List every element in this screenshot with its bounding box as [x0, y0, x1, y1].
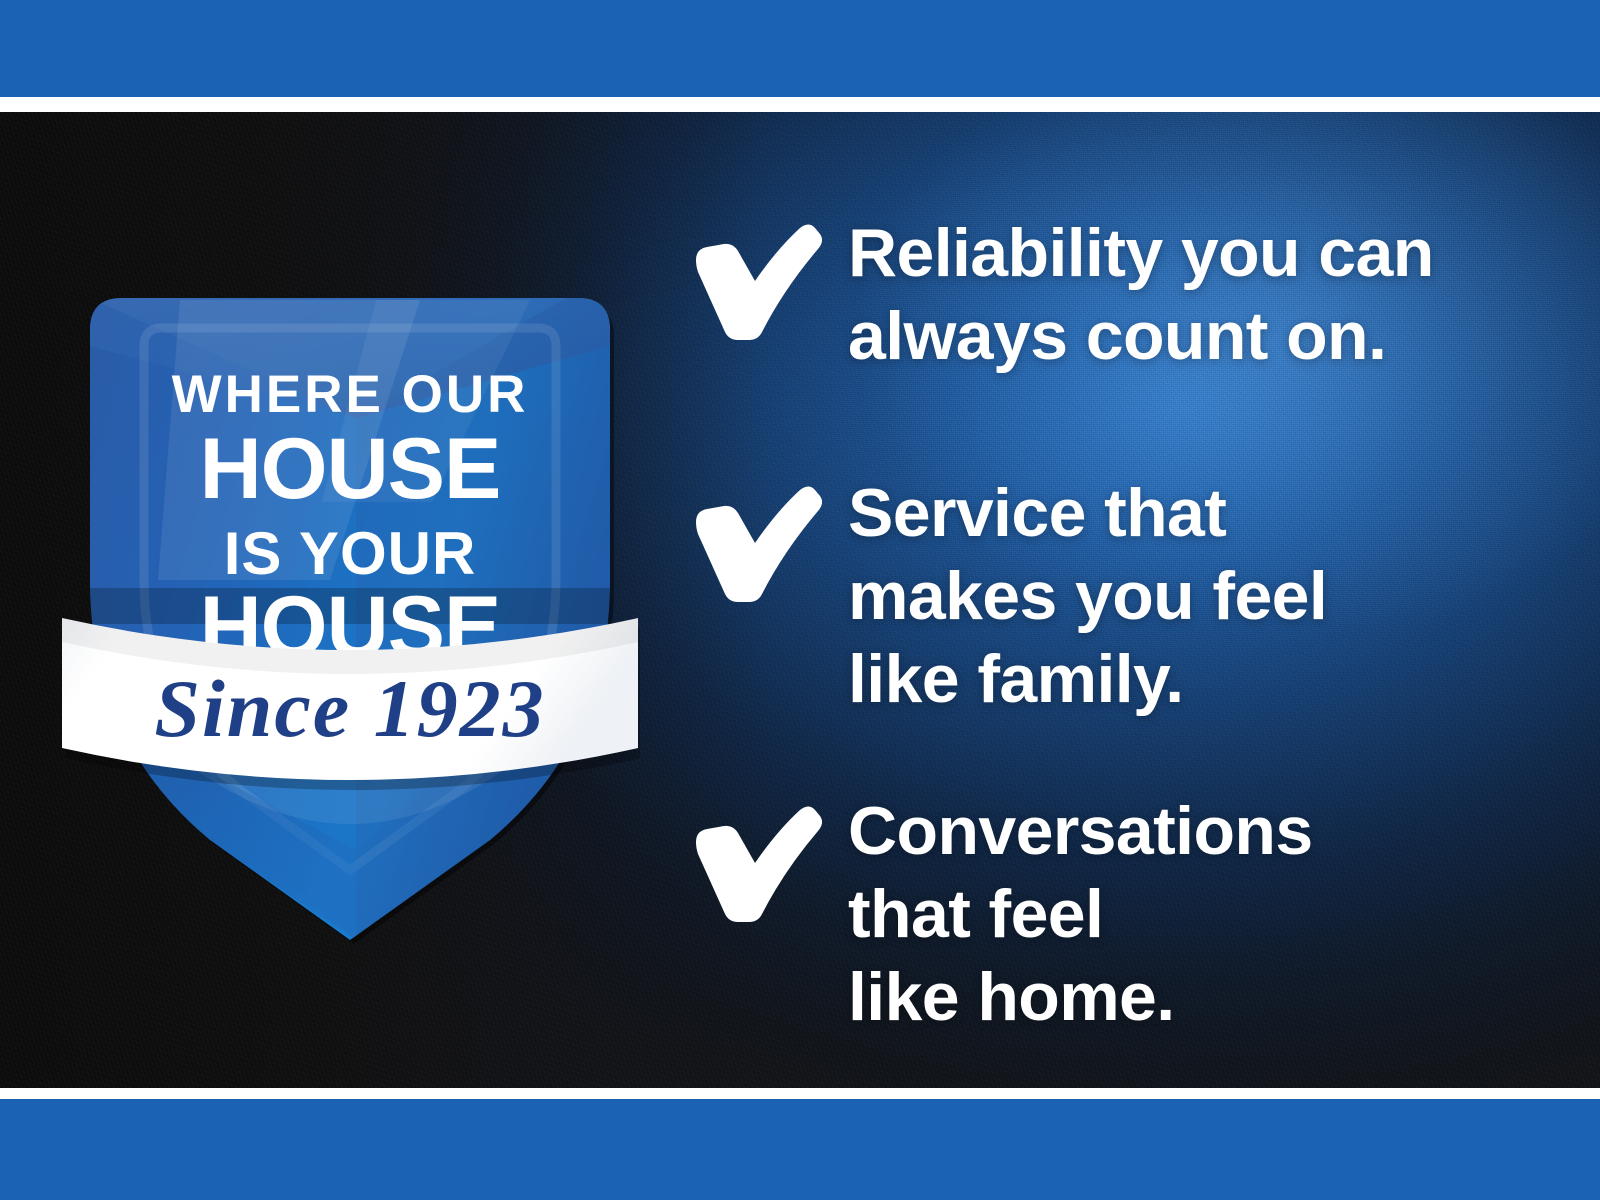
list-item-line: like home. — [848, 956, 1538, 1039]
brand-logo: WHERE OUR HOUSE IS YOUR HOUSE Since 1923 — [60, 150, 640, 950]
list-item-line: that feel — [848, 873, 1538, 956]
shield-line-2: HOUSE — [200, 421, 501, 517]
shield-line-3: IS YOUR — [224, 520, 477, 587]
promo-graphic: WHERE OUR HOUSE IS YOUR HOUSE Since 1923 — [0, 0, 1600, 1200]
list-item-line: like family. — [848, 638, 1538, 721]
list-item-line: makes you feel — [848, 555, 1538, 638]
list-item-text: Service that makes you feel like family. — [848, 472, 1538, 721]
list-item-line: Reliability you can — [848, 212, 1538, 295]
top-brand-bar — [0, 0, 1600, 97]
bottom-brand-bar — [0, 1099, 1600, 1200]
check-icon — [680, 216, 826, 342]
shield-line-1: WHERE OUR — [172, 365, 529, 424]
ribbon-text: Since 1923 — [154, 663, 545, 754]
value-proposition-list: Reliability you can always count on. Ser… — [672, 112, 1532, 1088]
list-item-line: always count on. — [848, 295, 1538, 378]
list-item-text: Reliability you can always count on. — [848, 212, 1538, 378]
check-icon — [680, 478, 826, 604]
list-item-line: Conversations — [848, 790, 1538, 873]
list-item-text: Conversations that feel like home. — [848, 790, 1538, 1039]
shield-text: WHERE OUR HOUSE IS YOUR HOUSE — [172, 365, 529, 675]
list-item-line: Service that — [848, 472, 1538, 555]
check-icon — [680, 798, 826, 924]
